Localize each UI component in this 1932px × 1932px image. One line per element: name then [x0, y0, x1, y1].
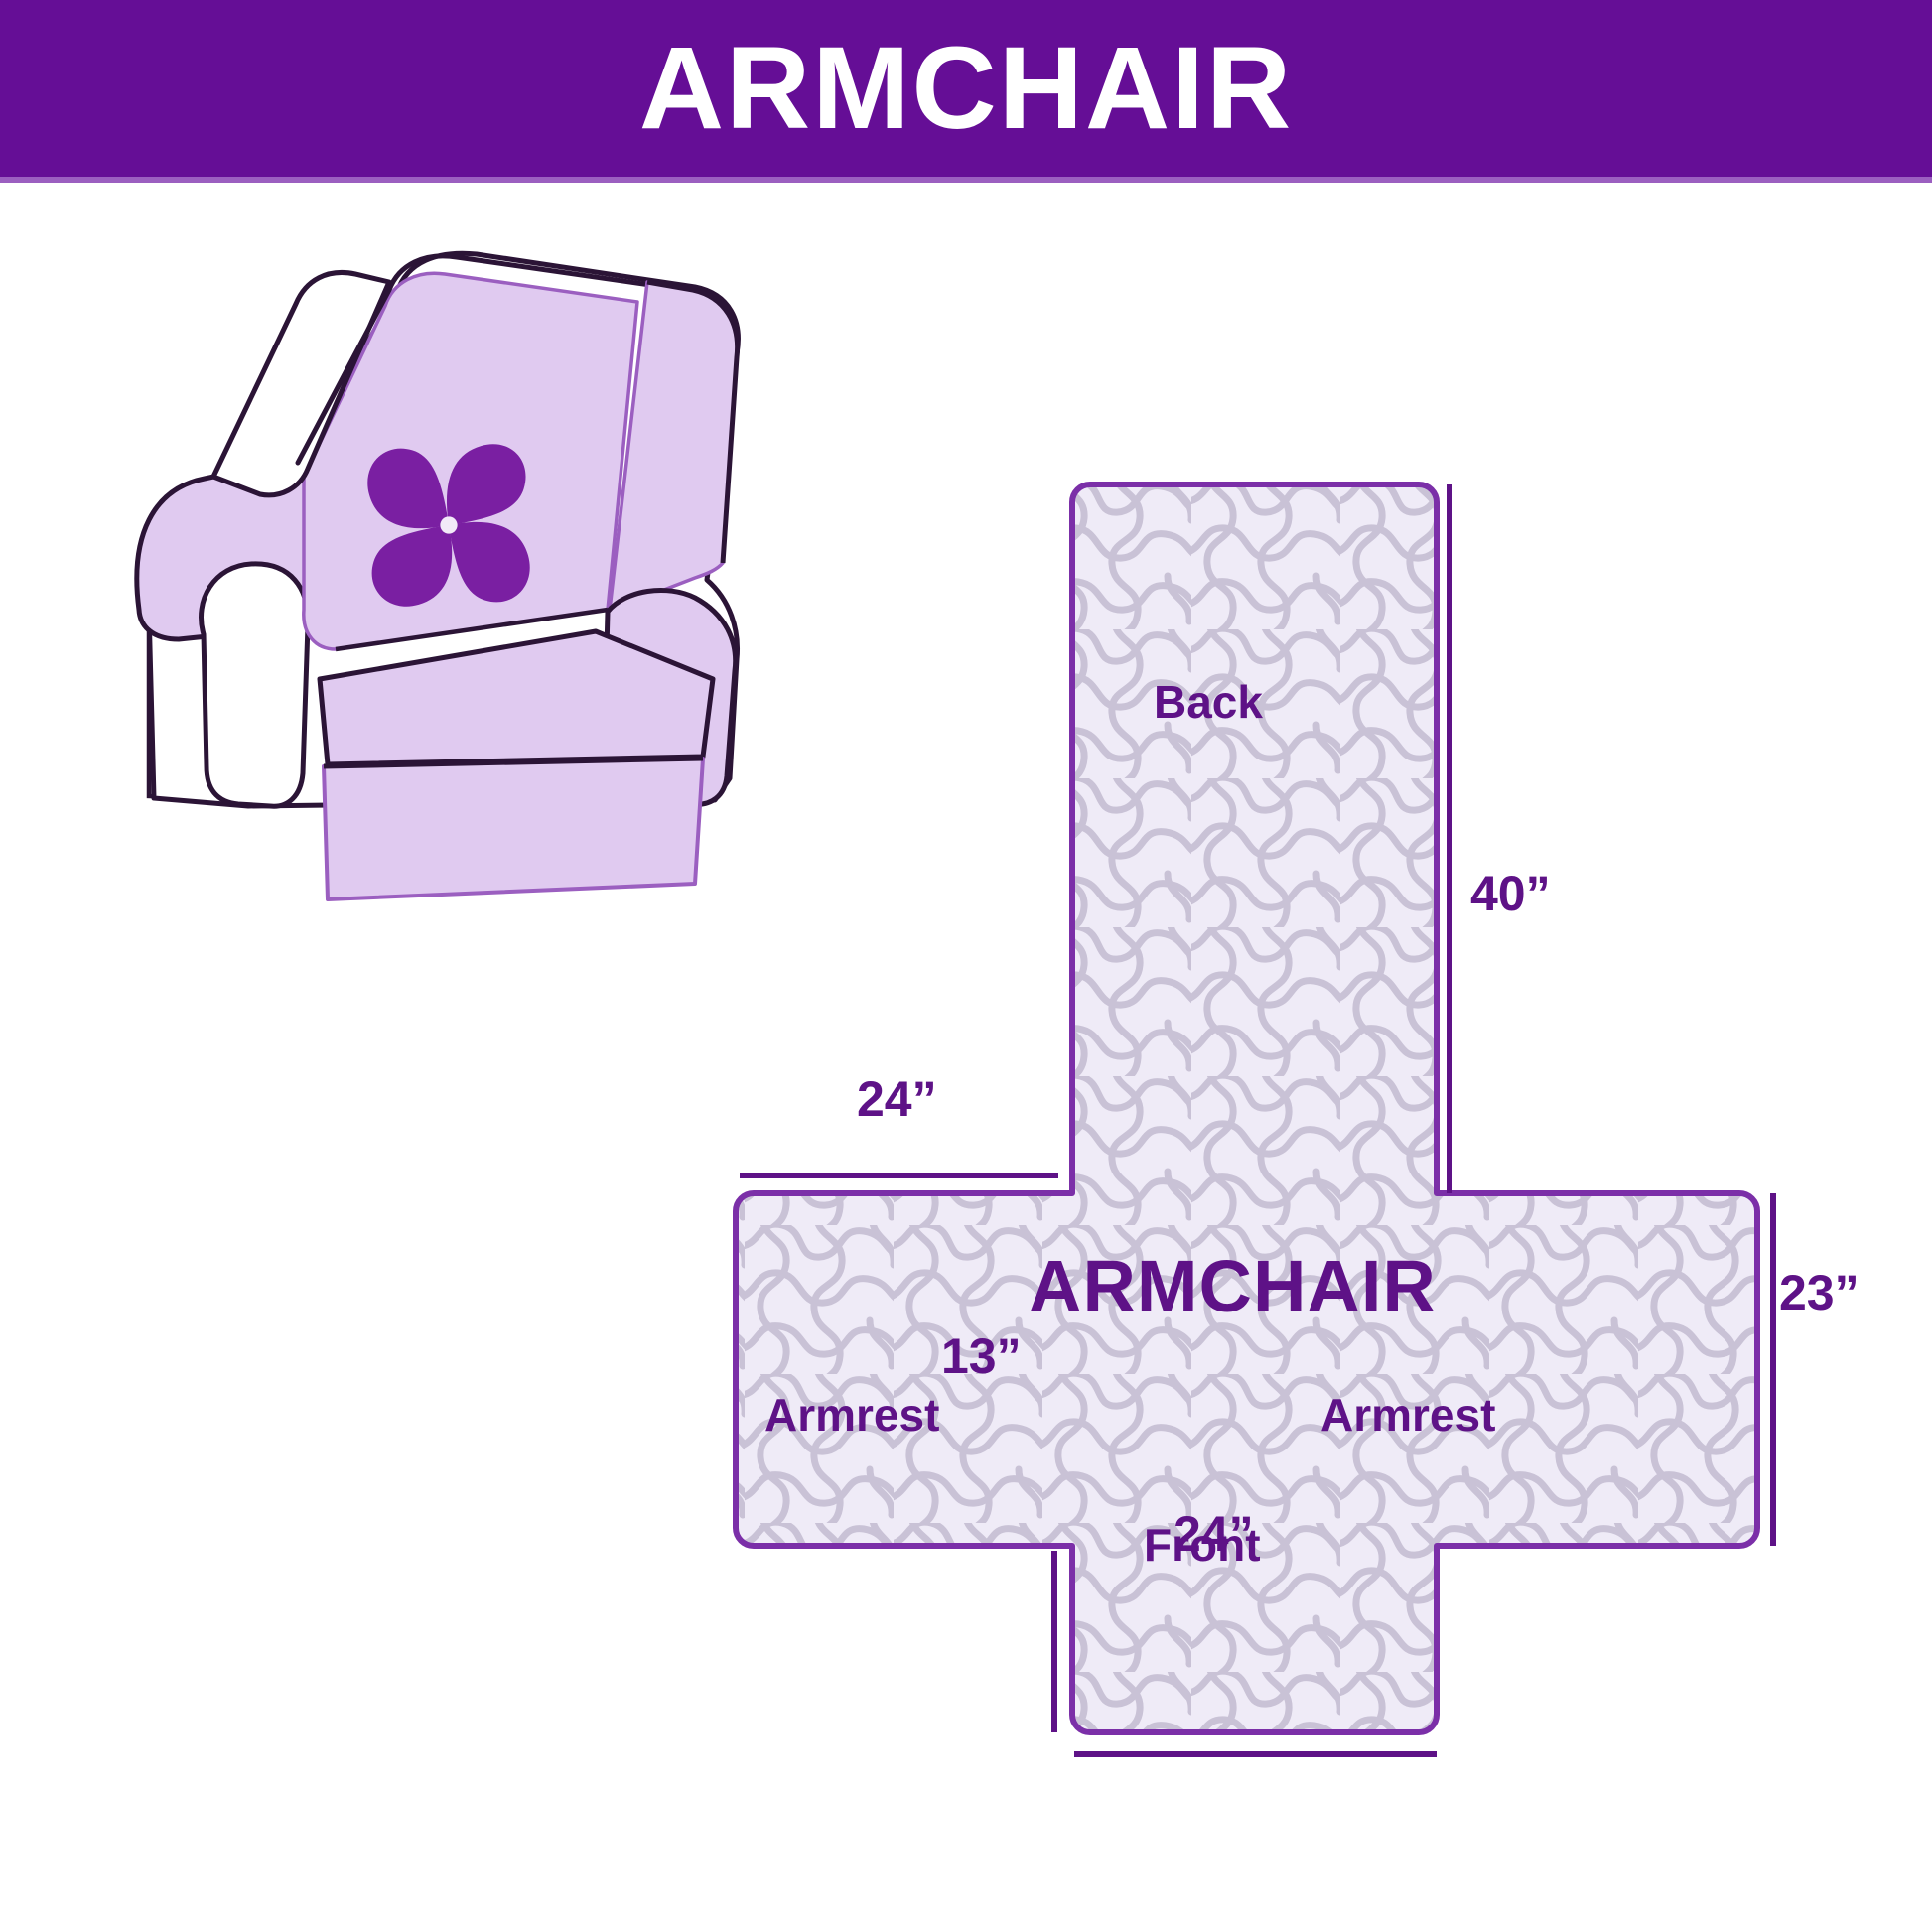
pattern-center-label: ARMCHAIR — [1029, 1250, 1437, 1323]
panel-label-back: Back — [1154, 679, 1263, 725]
panel-label-armrest-right: Armrest — [1320, 1392, 1495, 1438]
header-banner: ARMCHAIR — [0, 0, 1932, 177]
page-title: ARMCHAIR — [639, 30, 1293, 147]
dimension-label-front-width: 24” — [1173, 1509, 1254, 1559]
armchair-illustration — [137, 253, 739, 899]
dimension-label-back-width: 24” — [857, 1074, 937, 1124]
dimension-label-back-height: 40” — [1470, 869, 1551, 918]
diagram-canvas: Back ARMCHAIR Armrest Armrest Front 40” … — [0, 183, 1932, 1932]
dimension-label-center-height: 23” — [1779, 1268, 1860, 1317]
panel-label-armrest-left: Armrest — [764, 1392, 939, 1438]
diagram-svg — [0, 183, 1932, 1932]
dimension-label-front-depth: 13” — [941, 1331, 1022, 1381]
